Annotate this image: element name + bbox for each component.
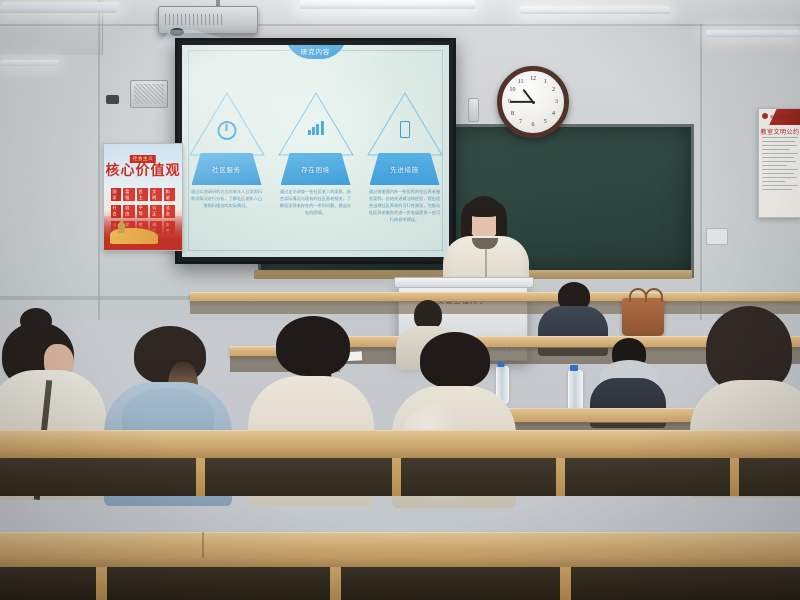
poster-right-brand: 安徽工程大学 <box>770 114 792 119</box>
ceiling-light-4 <box>705 30 800 37</box>
poster-left-row-1-cell-3: 文明 <box>150 188 161 201</box>
poster-right-text-lines <box>762 137 798 193</box>
power-icon <box>217 121 236 140</box>
classroom-photo: F G ¥ X ( J v c Q ( ( 研究内容 社 <box>0 0 800 600</box>
desk-row-1-leg-3 <box>560 567 571 600</box>
wall-seam-vertical-right <box>700 24 702 320</box>
poster-left-row-1: 国家 富强 民主 文明 和谐 <box>111 188 175 201</box>
desk-row-2-front <box>0 450 800 458</box>
wall-outlet <box>706 228 728 245</box>
ceiling-light-5 <box>0 60 59 66</box>
poster-left-row-1-cell-1: 富强 <box>123 188 134 201</box>
poster-left-artwork <box>104 216 182 250</box>
lectern-top <box>394 277 534 288</box>
wall-speaker <box>130 80 168 108</box>
ceiling-light-2 <box>300 0 475 9</box>
clock-minute-hand <box>510 101 533 103</box>
wall-camera <box>106 95 119 104</box>
desk-row-1-front <box>0 558 800 567</box>
slide-panel-2-label: 存在困境 <box>301 164 329 174</box>
clock-numeral-6: 6 <box>532 122 535 128</box>
slide-panel-3-label: 先进措施 <box>390 164 418 174</box>
clock-center-pin <box>532 101 535 104</box>
desk-row-1-seam <box>202 532 204 558</box>
attendee-back-right <box>590 338 666 418</box>
smartphone-icon <box>400 121 410 138</box>
slide-panel-3-base: 先进措施 <box>370 153 440 185</box>
signal-bars-icon <box>307 121 323 135</box>
clock-numeral-7: 7 <box>519 119 522 125</box>
poster-left-headline: 核心价值观 <box>104 160 182 180</box>
slide-panel-3: 先进措施 通过借鉴国内外一些优秀的社区养老服务案例，总结先进做法和经验，提出适合… <box>366 91 444 209</box>
projector-vents <box>165 14 224 24</box>
slide-panel-1-base: 社区服务 <box>192 153 262 185</box>
desk-row-1 <box>0 532 800 600</box>
slide-panel-3-body: 通过借鉴国内外一些优秀的社区养老服务案例，总结先进做法和经验，提出适合当地社区养… <box>368 189 442 224</box>
wall-seam-vertical-left <box>98 0 100 320</box>
desk-row-1-top <box>0 532 800 559</box>
clock-numeral-2: 2 <box>552 87 555 93</box>
clock-numeral-1: 1 <box>544 79 547 85</box>
desk-row-1-leg-1 <box>96 567 107 600</box>
ceiling-light-3 <box>520 6 671 14</box>
poster-right-logo-icon <box>762 113 768 119</box>
desk-row-2-leg-4 <box>730 458 739 496</box>
clock-numeral-5: 5 <box>544 119 547 125</box>
clock-numeral-12: 12 <box>530 76 536 82</box>
wall-seam-horizontal <box>0 24 800 26</box>
wall-sensor <box>468 98 479 122</box>
classroom-rules-poster: 安徽工程大学 教室文明公约 <box>758 108 800 218</box>
clock-numeral-3: 3 <box>555 99 558 105</box>
desk-row-2-leg-2 <box>392 458 401 496</box>
slide-title-text: 研究内容 <box>301 46 331 56</box>
desk-row-1-shelf <box>0 567 800 600</box>
projector-screen: 研究内容 社区服务 通过实地调研的方式对老年人日常照料需求情况进行分析，了解社区… <box>175 38 456 264</box>
clock-numeral-10: 10 <box>510 87 516 93</box>
leather-handbag <box>622 298 664 336</box>
desk-row-2-leg-1 <box>196 458 205 496</box>
desk-row-2 <box>0 430 800 496</box>
desk-row-2-leg-3 <box>556 458 565 496</box>
wall-clock: 12 1 2 3 4 5 6 7 8 9 10 11 <box>497 66 569 138</box>
core-values-poster: 社会主义 核心价值观 国家 富强 民主 文明 和谐 社会 自由 平等 公正 法治… <box>103 143 183 251</box>
slide-panels: 社区服务 通过实地调研的方式对老年人日常照料需求情况进行分析，了解社区老年人日常… <box>182 91 449 211</box>
poster-left-row-1-cell-2: 民主 <box>137 188 148 201</box>
clock-numeral-11: 11 <box>518 79 524 85</box>
slide-panel-1: 社区服务 通过实地调研的方式对老年人日常照料需求情况进行分析，了解社区老年人日常… <box>188 91 266 209</box>
clock-numeral-4: 4 <box>552 111 555 117</box>
desk-row-2-top <box>0 430 800 451</box>
slide-panel-2-body: 通过走访调查一些社区老人的家庭，结合实际情况与现有的社区养老服务，了解居家养老存… <box>279 189 353 217</box>
ceiling-light-1 <box>0 2 120 13</box>
poster-right-title: 教室文明公约 <box>759 127 800 136</box>
handbag-handle-right <box>645 288 663 302</box>
poster-left-row-1-cell-4: 和谐 <box>164 188 175 201</box>
slide-surface: 研究内容 社区服务 通过实地调研的方式对老年人日常照料需求情况进行分析，了解社区… <box>182 45 449 257</box>
slide-panel-2: 存在困境 通过走访调查一些社区老人的家庭，结合实际情况与现有的社区养老服务，了解… <box>277 91 355 209</box>
slide-panel-2-base: 存在困境 <box>281 153 351 185</box>
clock-numeral-8: 8 <box>511 111 514 117</box>
slide-panel-1-body: 通过实地调研的方式对老年人日常照料需求情况进行分析，了解社区老年人日常照料服务的… <box>190 189 264 210</box>
desk-row-1-leg-2 <box>330 567 341 600</box>
slide-panel-1-label: 社区服务 <box>212 164 240 174</box>
poster-left-row-1-tag: 国家 <box>111 188 121 201</box>
water-bottle-2-cap <box>570 365 578 371</box>
